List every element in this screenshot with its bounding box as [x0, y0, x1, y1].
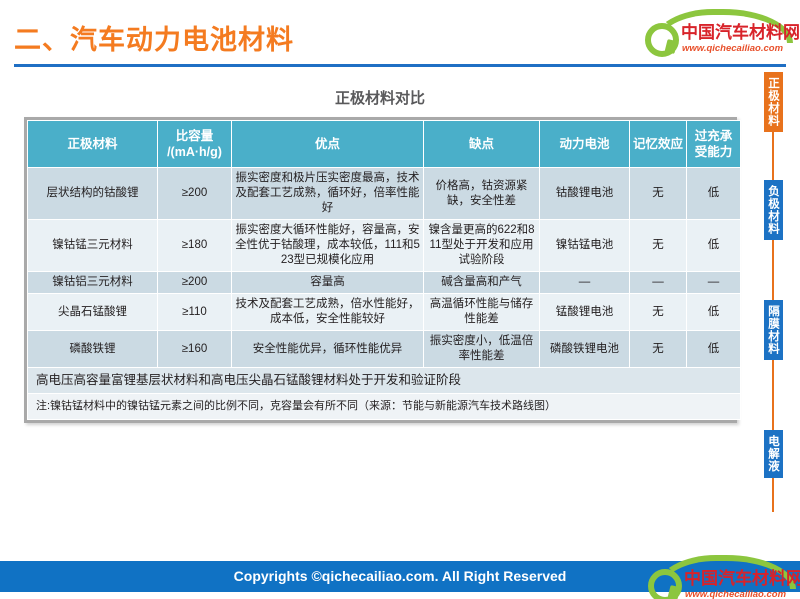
cell-capacity: ≥180 [158, 220, 232, 272]
table-row: 镍钴锰三元材料 ≥180 振实密度大循环性能好，容量高，安全性优于钴酸理，成本较… [28, 220, 741, 272]
cell-capacity: ≥160 [158, 331, 232, 368]
title-underline-rule [14, 64, 786, 67]
cell-pros: 振实密度和极片压实密度最高，技术及配套工艺成熟，循环好，倍率性能好 [232, 168, 424, 220]
logo-website-url: www.qichecailiao.com [682, 43, 783, 54]
cell-overcharge: 低 [687, 220, 741, 272]
site-logo-footer: 中国汽车材料网 www.qichecailiao.com [648, 555, 800, 599]
cell-capacity: ≥110 [158, 294, 232, 331]
logo-company-name: 中国汽车材料网 [684, 569, 800, 588]
cell-battery: — [540, 272, 630, 294]
cell-pros: 振实密度大循环性能好，容量高，安全性优于钴酸理，成本较低，111和523型已规模… [232, 220, 424, 272]
cell-overcharge: — [687, 272, 741, 294]
slide-canvas: 二、汽车动力电池材料 中国汽车材料网 www.qichecailiao.com … [0, 0, 800, 599]
capacity-line1: 比容量 [176, 129, 214, 143]
column-header-capacity: 比容量/(mA·h/g) [158, 121, 232, 168]
cell-memory: — [630, 272, 687, 294]
sidebar-item-cathode-material[interactable]: 正极材料 [764, 72, 783, 132]
cell-material: 尖晶石锰酸锂 [28, 294, 158, 331]
table-row: 层状结构的钴酸锂 ≥200 振实密度和极片压实密度最高，技术及配套工艺成熟，循环… [28, 168, 741, 220]
cell-battery: 钴酸锂电池 [540, 168, 630, 220]
cell-capacity: ≥200 [158, 272, 232, 294]
page-title: 二、汽车动力电池材料 [14, 18, 294, 57]
cell-pros: 技术及配套工艺成熟，倍水性能好，成本低，安全性能较好 [232, 294, 424, 331]
cell-battery: 锰酸锂电池 [540, 294, 630, 331]
sidebar-item-electrolyte[interactable]: 电解液 [764, 430, 783, 478]
cell-overcharge: 低 [687, 331, 741, 368]
cell-cons: 碱含量高和产气 [424, 272, 540, 294]
comparison-table-frame: 正极材料 比容量/(mA·h/g) 优点 缺点 动力电池 记忆效应 过充承受能力… [24, 117, 737, 423]
cell-memory: 无 [630, 220, 687, 272]
logo-website-url: www.qichecailiao.com [685, 589, 786, 599]
column-header-battery: 动力电池 [540, 121, 630, 168]
cell-material: 层状结构的钴酸锂 [28, 168, 158, 220]
table-row: 磷酸铁锂 ≥160 安全性能优异，循环性能优异 振实密度小，低温倍率性能差 磷酸… [28, 331, 741, 368]
cell-material: 镍钴锰三元材料 [28, 220, 158, 272]
table-row: 镍钴铝三元材料 ≥200 容量高 碱含量高和产气 — — — [28, 272, 741, 294]
cell-pros: 容量高 [232, 272, 424, 294]
cell-memory: 无 [630, 331, 687, 368]
cell-battery: 磷酸铁锂电池 [540, 331, 630, 368]
cell-cons: 振实密度小，低温倍率性能差 [424, 331, 540, 368]
cell-overcharge: 低 [687, 168, 741, 220]
table-header-row: 正极材料 比容量/(mA·h/g) 优点 缺点 动力电池 记忆效应 过充承受能力 [28, 121, 741, 168]
cell-cons: 镍含量更高的622和811型处于开发和应用试验阶段 [424, 220, 540, 272]
capacity-line2: /(mA·h/g) [167, 145, 222, 159]
sidebar-item-separator-material[interactable]: 隔膜材料 [764, 300, 783, 360]
note-text: 高电压高容量富锂基层状材料和高电压尖晶石锰酸锂材料处于开发和验证阶段 [28, 368, 741, 394]
cell-overcharge: 低 [687, 294, 741, 331]
logo-company-name: 中国汽车材料网 [681, 23, 800, 42]
cell-cons: 价格高，钴资源紧缺，安全性差 [424, 168, 540, 220]
cell-pros: 安全性能优异，循环性能优异 [232, 331, 424, 368]
cell-battery: 镍钴锰电池 [540, 220, 630, 272]
cell-cons: 高温循环性能与储存性能差 [424, 294, 540, 331]
cell-capacity: ≥200 [158, 168, 232, 220]
column-header-material: 正极材料 [28, 121, 158, 168]
cell-material: 磷酸铁锂 [28, 331, 158, 368]
source-text: 注:镍钴锰材料中的镍钴锰元素之间的比例不同，克容量会有所不同（来源：节能与新能源… [28, 394, 741, 420]
cell-material: 镍钴铝三元材料 [28, 272, 158, 294]
sidebar-item-anode-material[interactable]: 负极材料 [764, 180, 783, 240]
cathode-material-comparison-table: 正极材料 比容量/(mA·h/g) 优点 缺点 动力电池 记忆效应 过充承受能力… [27, 120, 741, 420]
site-logo-header: 中国汽车材料网 www.qichecailiao.com [645, 9, 797, 59]
column-header-cons: 缺点 [424, 121, 540, 168]
column-header-pros: 优点 [232, 121, 424, 168]
cell-memory: 无 [630, 168, 687, 220]
column-header-memory-effect: 记忆效应 [630, 121, 687, 168]
cell-memory: 无 [630, 294, 687, 331]
table-row: 尖晶石锰酸锂 ≥110 技术及配套工艺成熟，倍水性能好，成本低，安全性能较好 高… [28, 294, 741, 331]
column-header-overcharge: 过充承受能力 [687, 121, 741, 168]
table-note-row: 高电压高容量富锂基层状材料和高电压尖晶石锰酸锂材料处于开发和验证阶段 [28, 368, 741, 394]
table-source-row: 注:镍钴锰材料中的镍钴锰元素之间的比例不同，克容量会有所不同（来源：节能与新能源… [28, 394, 741, 420]
table-caption: 正极材料对比 [0, 87, 760, 108]
